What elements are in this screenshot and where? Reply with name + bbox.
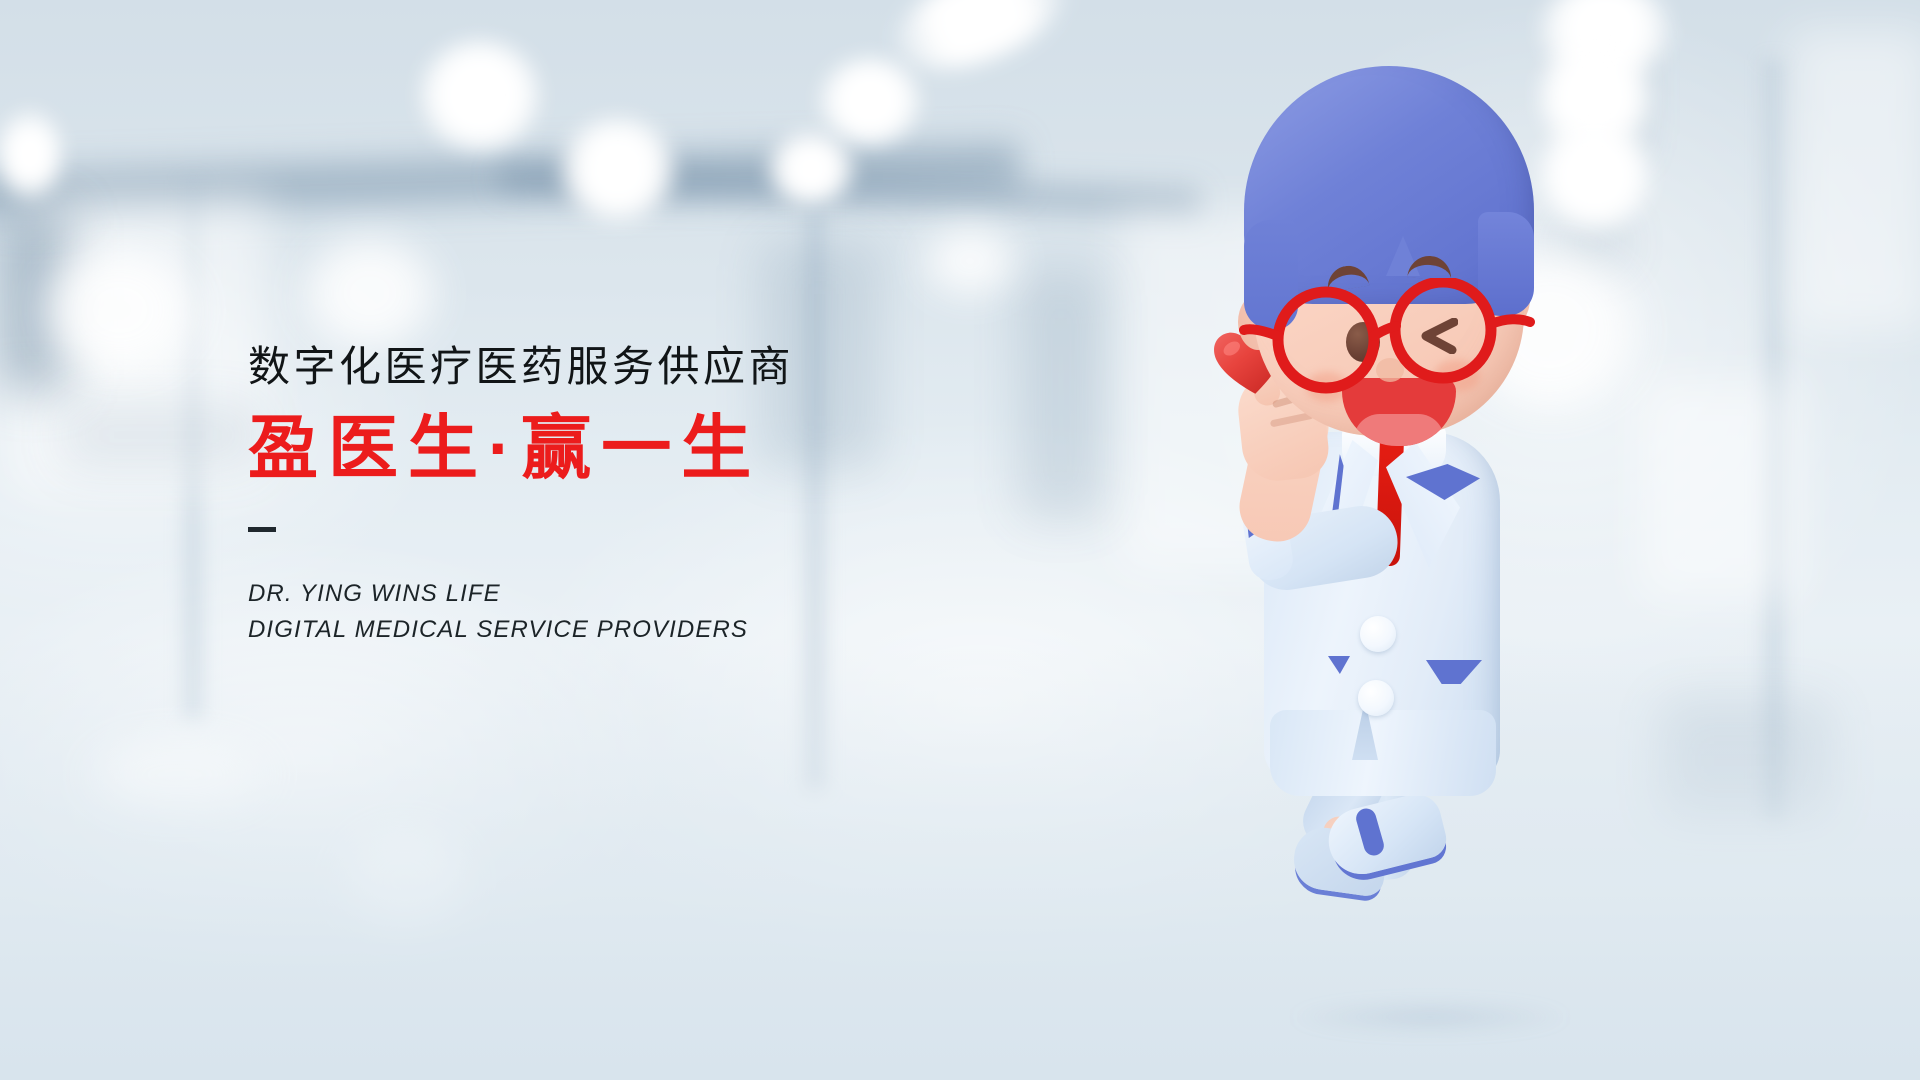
slogan: 盈医生·赢一生	[248, 411, 1148, 487]
page-title: 数字化医疗医药服务供应商	[248, 344, 1148, 389]
doctor-illustration	[1210, 60, 1630, 1020]
coat-button-bottom	[1358, 680, 1394, 716]
ceiling-light-3	[0, 110, 60, 200]
banner-stage: 数字化医疗医药服务供应商 盈医生·赢一生 DR. YING WINS LIFE …	[0, 0, 1920, 1080]
banner-copy: 数字化医疗医药服务供应商 盈医生·赢一生 DR. YING WINS LIFE …	[248, 344, 1148, 648]
ceiling-light-8	[820, 58, 920, 144]
ceiling-light-2	[560, 118, 676, 222]
window-glow-mid	[300, 238, 440, 348]
window-glow-left	[40, 250, 200, 370]
ceiling-light-10	[920, 228, 1020, 294]
subtitle-line-1: DR. YING WINS LIFE	[248, 576, 1148, 612]
divider	[248, 527, 276, 532]
background-panel-c	[1790, 30, 1920, 330]
subtitle-line-2: DIGITAL MEDICAL SERVICE PROVIDERS	[248, 612, 1148, 648]
floor-gradient	[0, 650, 1920, 1080]
background-panel-d	[1640, 380, 1800, 600]
lab-coat-hem	[1270, 710, 1496, 796]
ceiling-light-1	[420, 40, 540, 150]
coat-button-top	[1360, 616, 1396, 652]
glasses-icon	[1238, 278, 1538, 403]
background-dark-counter	[60, 400, 260, 470]
tongue	[1354, 414, 1444, 446]
ceiling-light-9	[768, 132, 854, 206]
subtitle-group: DR. YING WINS LIFE DIGITAL MEDICAL SERVI…	[248, 576, 1148, 648]
